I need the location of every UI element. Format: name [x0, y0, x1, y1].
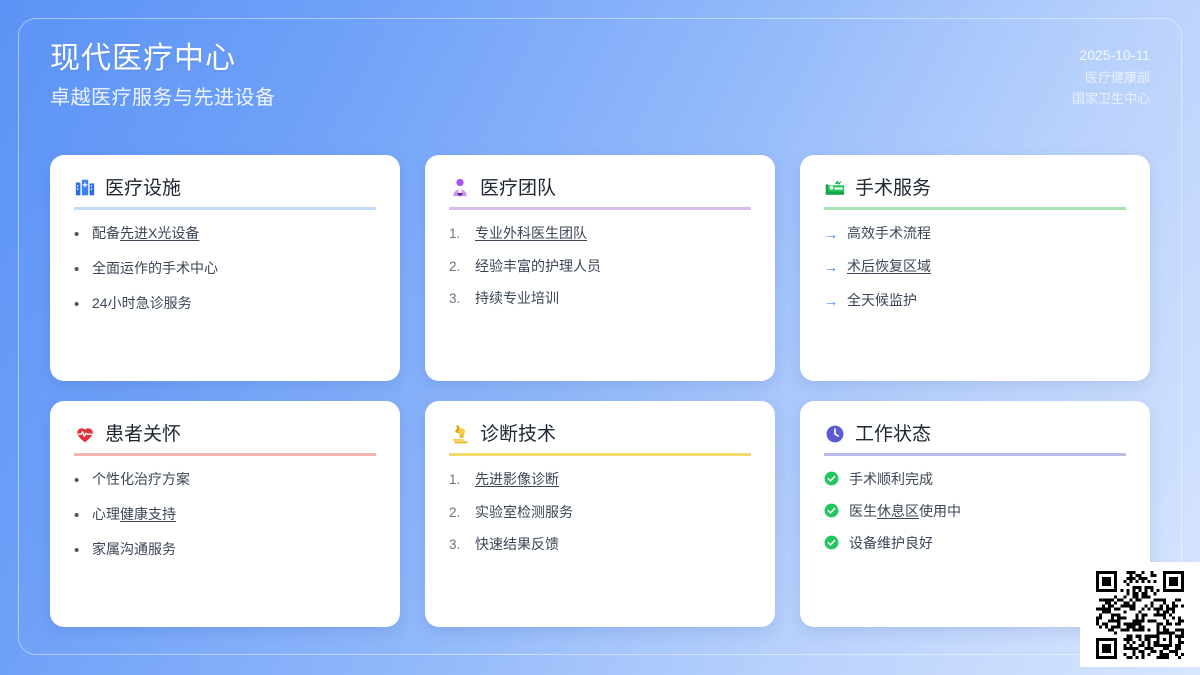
list-item-text: 全天候监护 [847, 291, 917, 310]
list-item: →全天候监护 [824, 291, 1126, 311]
list-item-text: 经验丰富的护理人员 [475, 257, 601, 276]
list-item-link[interactable]: 休息区 [877, 503, 919, 519]
meta-org-line1: 医疗健康部 [1072, 67, 1150, 88]
list-item-text: 快速结果反馈 [475, 535, 559, 554]
slide-root: 现代医疗中心 卓越医疗服务与先进设备 2025-10-11 医疗健康部 国家卫生… [0, 0, 1200, 675]
qr-code[interactable] [1096, 571, 1184, 659]
card-list: •个性化治疗方案•心理健康支持•家属沟通服务 [74, 470, 376, 561]
list-item: 医生休息区使用中 [824, 502, 1126, 521]
check-circle-icon [824, 470, 840, 486]
hospital-bed-icon [824, 177, 846, 199]
list-item: •全面运作的手术中心 [74, 259, 376, 281]
card-header: 诊断技术 [449, 423, 751, 456]
list-item-text: 家属沟通服务 [92, 540, 176, 559]
header-meta: 2025-10-11 医疗健康部 国家卫生中心 [1072, 44, 1150, 109]
list-item-text: 手术顺利完成 [849, 470, 933, 489]
card-medical-team: 医疗团队1.专业外科医生团队2.经验丰富的护理人员3.持续专业培训 [425, 155, 775, 381]
card-medical-facilities: 医疗设施•配备先进X光设备•全面运作的手术中心•24小时急诊服务 [50, 155, 400, 381]
bullet-icon: • [74, 224, 83, 246]
card-list: 1.先进影像诊断2.实验室检测服务3.快速结果反馈 [449, 470, 751, 555]
list-item: •24小时急诊服务 [74, 294, 376, 316]
card-header: 手术服务 [824, 177, 1126, 210]
card-list: •配备先进X光设备•全面运作的手术中心•24小时急诊服务 [74, 224, 376, 315]
card-diagnostic-technology: 诊断技术1.先进影像诊断2.实验室检测服务3.快速结果反馈 [425, 401, 775, 627]
list-item: 2.实验室检测服务 [449, 503, 751, 523]
page-subtitle: 卓越医疗服务与先进设备 [50, 87, 1150, 109]
list-item-text: 实验室检测服务 [475, 503, 573, 522]
heartbeat-icon [74, 423, 96, 445]
card-surgery-services: 手术服务→高效手术流程→术后恢复区域→全天候监护 [800, 155, 1150, 381]
list-item: •家属沟通服务 [74, 540, 376, 562]
card-title: 医疗团队 [480, 179, 556, 198]
list-item: 3.快速结果反馈 [449, 535, 751, 555]
list-item: 1.专业外科医生团队 [449, 224, 751, 244]
list-number: 2. [449, 257, 466, 277]
list-item: •心理健康支持 [74, 505, 376, 527]
meta-date: 2025-10-11 [1072, 44, 1150, 67]
bullet-icon: • [74, 470, 83, 492]
clock-icon [824, 423, 846, 445]
card-title: 手术服务 [855, 179, 931, 198]
list-item-link[interactable]: 先进X光设备 [120, 225, 199, 241]
bullet-icon: • [74, 505, 83, 527]
list-item-text: 术后恢复区域 [847, 257, 931, 276]
page-title: 现代医疗中心 [50, 42, 1150, 75]
card-list: 1.专业外科医生团队2.经验丰富的护理人员3.持续专业培训 [449, 224, 751, 309]
list-item-link[interactable]: 健康支持 [120, 506, 176, 522]
list-number: 2. [449, 503, 466, 523]
list-item-text: 高效手术流程 [847, 224, 931, 243]
list-item-text: 心理健康支持 [92, 505, 176, 524]
list-item-text: 24小时急诊服务 [92, 294, 192, 313]
list-number: 3. [449, 535, 466, 555]
card-header: 医疗设施 [74, 177, 376, 210]
list-item-text: 个性化治疗方案 [92, 470, 190, 489]
microscope-icon [449, 423, 471, 445]
card-title: 工作状态 [855, 425, 931, 444]
list-item: •个性化治疗方案 [74, 470, 376, 492]
card-list: 手术顺利完成医生休息区使用中设备维护良好 [824, 470, 1126, 553]
list-item: 3.持续专业培训 [449, 289, 751, 309]
list-item-link[interactable]: 专业外科医生团队 [475, 225, 587, 241]
card-title: 患者关怀 [105, 425, 181, 444]
list-item-text: 医生休息区使用中 [849, 502, 961, 521]
list-item: →术后恢复区域 [824, 257, 1126, 277]
bullet-icon: • [74, 540, 83, 562]
doctor-icon [449, 177, 471, 199]
card-grid: 医疗设施•配备先进X光设备•全面运作的手术中心•24小时急诊服务医疗团队1.专业… [50, 155, 1150, 627]
list-item-text: 先进影像诊断 [475, 470, 559, 489]
bullet-icon: • [74, 259, 83, 281]
arrow-icon: → [824, 257, 838, 277]
bullet-icon: • [74, 294, 83, 316]
list-item: 设备维护良好 [824, 534, 1126, 553]
list-number: 1. [449, 470, 466, 490]
slide-header: 现代医疗中心 卓越医疗服务与先进设备 [50, 42, 1150, 142]
list-number: 3. [449, 289, 466, 309]
card-header: 患者关怀 [74, 423, 376, 456]
list-item: 2.经验丰富的护理人员 [449, 257, 751, 277]
list-item-link[interactable]: 先进影像诊断 [475, 471, 559, 487]
arrow-icon: → [824, 291, 838, 311]
qr-panel [1080, 562, 1200, 667]
meta-org-line2: 国家卫生中心 [1072, 88, 1150, 109]
list-item-text: 专业外科医生团队 [475, 224, 587, 243]
list-item-text: 设备维护良好 [849, 534, 933, 553]
list-item: •配备先进X光设备 [74, 224, 376, 246]
list-item-text: 配备先进X光设备 [92, 224, 199, 243]
list-number: 1. [449, 224, 466, 244]
list-item: →高效手术流程 [824, 224, 1126, 244]
list-item-link[interactable]: 术后恢复区域 [847, 258, 931, 274]
card-patient-care: 患者关怀•个性化治疗方案•心理健康支持•家属沟通服务 [50, 401, 400, 627]
card-header: 医疗团队 [449, 177, 751, 210]
card-title: 医疗设施 [105, 179, 181, 198]
arrow-icon: → [824, 224, 838, 244]
hospital-icon [74, 177, 96, 199]
card-header: 工作状态 [824, 423, 1126, 456]
list-item-text: 持续专业培训 [475, 289, 559, 308]
check-circle-icon [824, 534, 840, 550]
card-list: →高效手术流程→术后恢复区域→全天候监护 [824, 224, 1126, 311]
list-item: 1.先进影像诊断 [449, 470, 751, 490]
list-item-text: 全面运作的手术中心 [92, 259, 218, 278]
card-title: 诊断技术 [480, 425, 556, 444]
list-item: 手术顺利完成 [824, 470, 1126, 489]
check-circle-icon [824, 502, 840, 518]
